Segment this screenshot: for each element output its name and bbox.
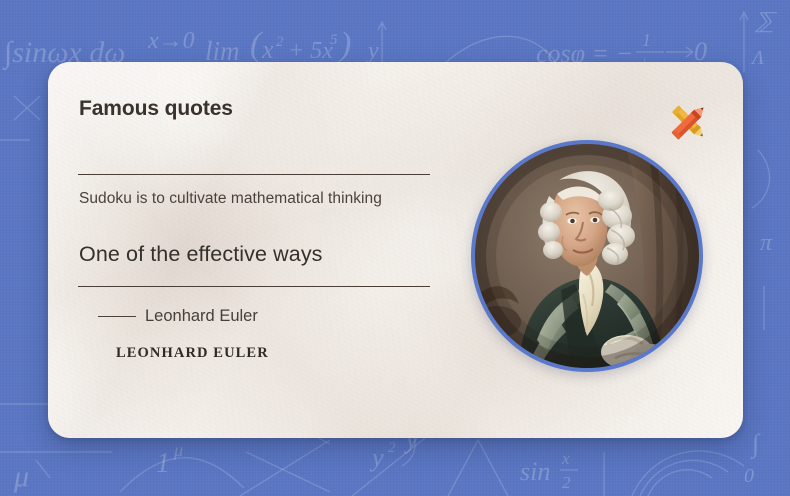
svg-text:π: π <box>760 230 773 256</box>
svg-text:2: 2 <box>276 34 284 50</box>
svg-text:2: 2 <box>562 473 571 492</box>
slide-canvas: ∫sinωx dω x→0 lim x→0 ( x 2 + 5x 5 ) y c… <box>0 0 790 496</box>
svg-text:x: x <box>561 449 570 468</box>
page-title: Famous quotes <box>79 97 233 121</box>
svg-text:1: 1 <box>156 448 170 479</box>
svg-text:x: x <box>261 35 274 64</box>
attribution-name: Leonhard Euler <box>145 307 258 326</box>
attribution-dash <box>98 316 136 318</box>
leonhard-euler-portrait <box>471 140 703 372</box>
svg-text:μ: μ <box>173 440 183 460</box>
svg-text:): ) <box>338 26 351 63</box>
svg-text:⅀: ⅀ <box>755 8 778 33</box>
quote-card: Famous quotes Sudoku is to cultivate mat… <box>48 62 743 438</box>
svg-text:∫: ∫ <box>750 429 761 459</box>
crossed-pencils-icon <box>661 94 717 150</box>
svg-text:(: ( <box>250 26 264 63</box>
quote-line-1: Sudoku is to cultivate mathematical thin… <box>79 190 382 208</box>
svg-text:1: 1 <box>642 30 651 50</box>
divider-bottom <box>78 286 430 287</box>
svg-text:2: 2 <box>388 440 396 456</box>
svg-text:+ 5x: + 5x <box>288 38 333 64</box>
svg-text:5: 5 <box>330 32 338 48</box>
svg-text:y: y <box>366 38 379 64</box>
svg-text:Λ: Λ <box>750 47 764 69</box>
divider-top <box>78 174 430 175</box>
svg-text:x→0: x→0 <box>147 28 195 54</box>
attribution-name-caps: LEONHARD EULER <box>116 345 269 362</box>
svg-text:μ: μ <box>13 460 29 493</box>
svg-text:y: y <box>369 443 384 472</box>
svg-text:sin: sin <box>520 457 550 486</box>
quote-line-2: One of the effective ways <box>79 242 323 267</box>
attribution: Leonhard Euler <box>98 307 258 326</box>
svg-text:0: 0 <box>744 465 754 487</box>
